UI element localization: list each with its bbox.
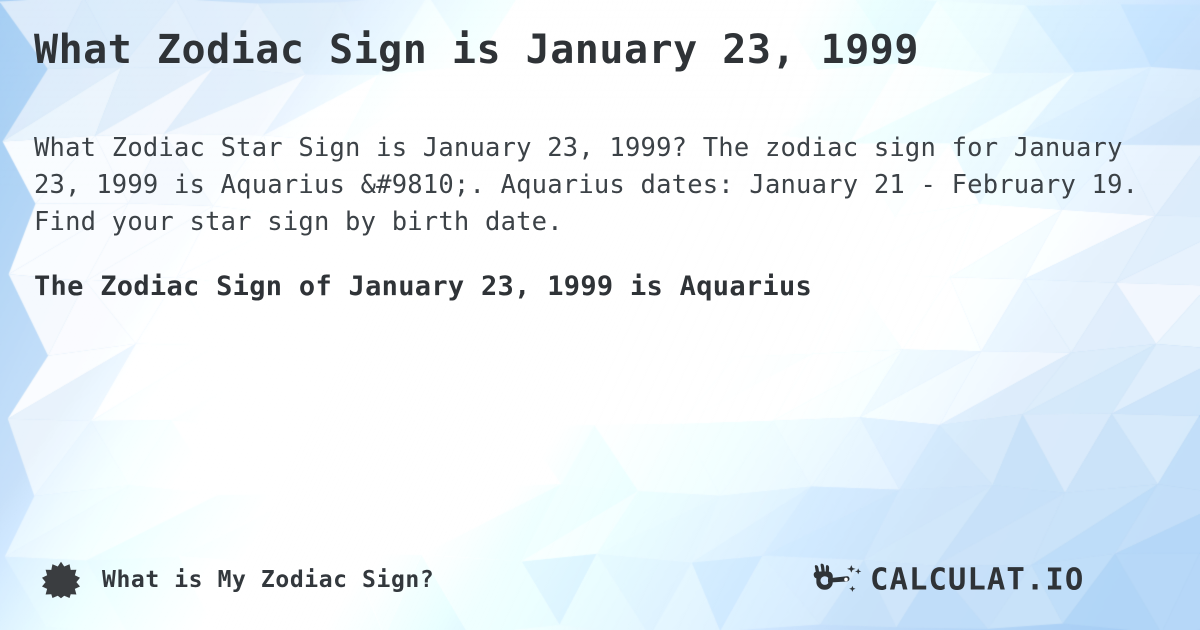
footer: What is My Zodiac Sign? — [0, 530, 1200, 630]
starburst-icon — [42, 561, 80, 599]
brand-wordmark: CALCULAT.IO — [870, 561, 1166, 599]
intro-paragraph: What Zodiac Star Sign is January 23, 199… — [34, 130, 1166, 241]
hand-magic-wand-icon — [810, 562, 864, 598]
footer-left-group: What is My Zodiac Sign? — [42, 561, 434, 599]
footer-label: What is My Zodiac Sign? — [102, 567, 434, 593]
page-title: What Zodiac Sign is January 23, 1999 — [34, 26, 1166, 74]
brand-logo[interactable]: CALCULAT.IO — [810, 561, 1166, 599]
brand-wordmark-text: CALCULAT.IO — [870, 562, 1084, 597]
answer-heading: The Zodiac Sign of January 23, 1999 is A… — [34, 267, 994, 307]
